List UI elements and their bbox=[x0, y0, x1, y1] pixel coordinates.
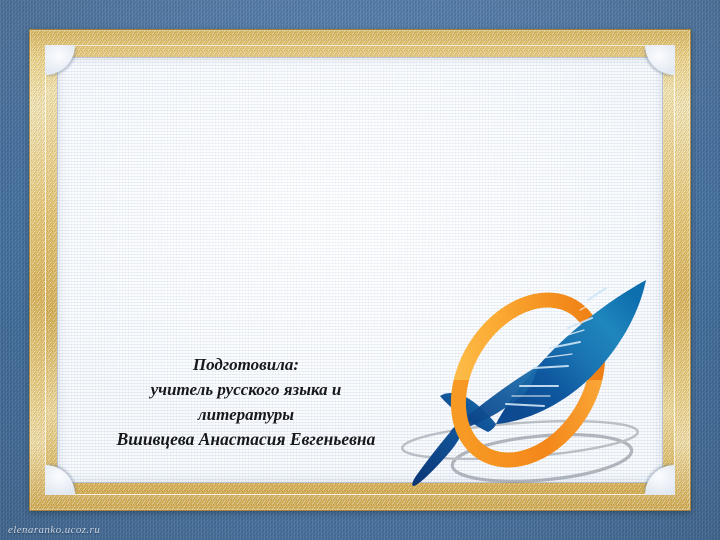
author-block: Подготовила: учитель русского языка и ли… bbox=[66, 352, 426, 452]
presentation-slide: Мастер-класс на тему: Мастер-класс на те… bbox=[0, 0, 720, 540]
author-prepared-by-label: Подготовила: bbox=[66, 352, 426, 377]
site-watermark: elenaranko.ucoz.ru bbox=[8, 524, 100, 536]
main-title-text: «Кроссенс как интерактивное средство обу… bbox=[57, 132, 663, 270]
author-name: Вшивцева Анастасия Евгеньевна bbox=[66, 427, 426, 452]
main-title-line-2: средство обучения на уроках bbox=[57, 178, 663, 224]
main-title-line-1: «Кроссенс как интерактивное bbox=[57, 132, 663, 178]
main-title-line-3: русского языка и литературы» bbox=[57, 224, 663, 270]
author-role-line-1: учитель русского языка и bbox=[66, 377, 426, 402]
headline-container: Мастер-класс на тему: Мастер-класс на те… bbox=[57, 66, 663, 106]
main-title-container: «Кроссенс как интерактивное средство обу… bbox=[57, 132, 663, 282]
author-role-line-2: литературы bbox=[66, 402, 426, 427]
headline-text: Мастер-класс на тему: bbox=[57, 66, 663, 104]
